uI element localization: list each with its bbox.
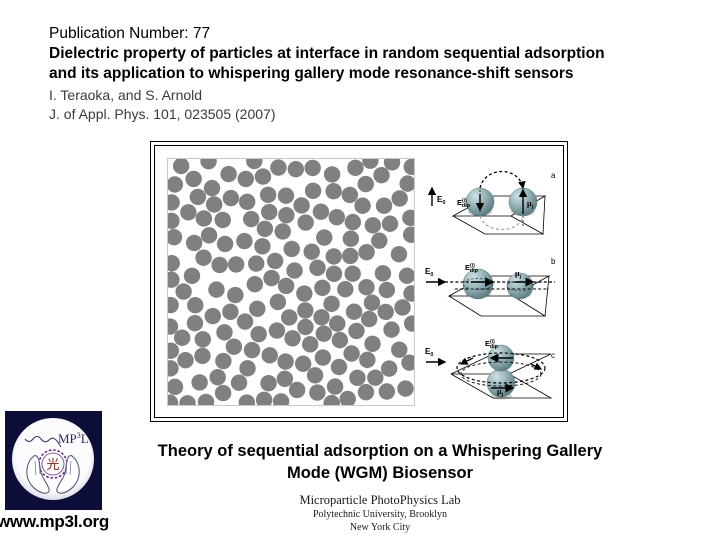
rsa-particle [314,280,330,296]
rsa-particle [244,342,260,358]
rsa-particle [304,244,320,260]
rsa-particle [278,207,294,223]
rsa-particle [208,281,224,297]
rsa-particle [278,278,294,294]
rsa-particle [263,270,279,286]
dipole-diagram-b: E0 [423,242,563,326]
rsa-particle [204,180,220,196]
e0-label-a: E0 [437,195,445,206]
rsa-particle [286,262,302,278]
rsa-particle [243,211,259,227]
rsa-particle [248,255,264,271]
rsa-particle [343,230,359,246]
rsa-particle [237,313,253,329]
rsa-particle [209,369,225,385]
rsa-particle [220,166,236,182]
rsa-particle [309,260,325,276]
rsa-particle [307,367,323,383]
rsa-particle [313,203,329,219]
rsa-particle [394,299,410,315]
rsa-particle [346,304,362,320]
rsa-particle [260,375,276,391]
rsa-particle [297,302,313,318]
rsa-particle [383,321,399,337]
rsa-particle [371,232,387,248]
rsa-particle [302,336,318,352]
rsa-particle [206,196,222,212]
rsa-particle [309,384,325,400]
lab-footer: Microparticle PhotoPhysics Lab Polytechn… [190,493,570,534]
rsa-particle [196,210,212,226]
rsa-particle [316,325,332,341]
rsa-particle [195,331,211,347]
rsa-particle [257,221,273,237]
rsa-particle [349,370,365,386]
rsa-particle [376,198,392,214]
dipole-field-loop-a [480,172,523,189]
rsa-particle [228,256,244,272]
rsa-particle [195,250,211,266]
rsa-particle [262,347,278,363]
rsa-particle [238,171,254,187]
rsa-particle [347,160,363,176]
rsa-particle [358,384,374,400]
rsa-particle [358,176,374,192]
rsa-particle [215,353,231,369]
rsa-particle [211,257,227,273]
rsa-particle [361,311,377,327]
sphere-b-left [463,269,493,299]
rsa-particle [329,315,345,331]
logo-acronym: MP3L [58,431,89,446]
rsa-particle [358,244,374,260]
rsa-particle [325,183,341,199]
rsa-particle [239,194,255,210]
dipole-diagram-c: E0 [423,328,563,412]
rsa-particle [323,296,339,312]
rsa-particle [281,309,297,325]
rsa-particle [327,378,343,394]
rsa-particle [174,330,190,346]
rsa-particle [222,304,238,320]
rsa-particle-field-panel [167,158,415,406]
dipole-diagram-a: E0 [423,154,563,238]
rsa-particle [304,160,320,176]
rsa-particle [227,287,243,303]
rsa-particle [191,374,207,390]
rsa-particle [187,297,203,313]
rsa-particle [379,383,395,399]
rsa-particle [175,283,191,299]
rsa-particle [367,369,383,385]
rsa-particle [358,279,374,295]
panel-label-a: a [551,171,556,180]
rsa-particle [216,324,232,340]
lab-website-url[interactable]: www.mp3l.org [0,511,115,533]
rsa-particle [236,233,252,249]
lab-name: Microparticle PhotoPhysics Lab [190,493,570,508]
rsa-particle [215,212,231,228]
rsa-particle [261,204,277,220]
rsa-particle [342,187,358,203]
rsa-particle [226,339,242,355]
rsa-particle [187,315,203,331]
lab-city: New York City [190,521,570,534]
journal-reference: J. of Appl. Phys. 101, 023505 (2007) [49,105,689,124]
rsa-particle [315,349,331,365]
rsa-particle [231,375,247,391]
rsa-particle [391,342,407,358]
rsa-particle [326,248,342,264]
rsa-particle [250,326,266,342]
rsa-particle [185,171,201,187]
rsa-particle [278,188,294,204]
rsa-particle [326,266,342,282]
panel-label-b: b [551,257,556,266]
rsa-particle-field-svg [168,159,414,405]
publication-number: Publication Number: 77 [49,24,689,44]
figure-caption: Theory of sequential adsorption on a Whi… [110,440,650,484]
rsa-particle [270,294,286,310]
rsa-particle [247,276,263,292]
rsa-particle [345,266,361,282]
paper-title-line-2: and its application to whispering galler… [49,64,689,84]
rsa-particle [277,371,293,387]
rsa-particle [365,217,381,233]
rsa-particle [275,223,291,239]
logo-glyph: 光 [46,458,59,473]
rsa-particle [332,332,348,348]
header-block: Publication Number: 77 Dielectric proper… [49,24,689,124]
caption-line-2: Mode (WGM) Biosensor [110,462,650,484]
figure-frame: E0 [150,141,568,422]
rsa-particle [249,301,265,317]
rsa-particle [313,309,329,325]
rsa-particle [382,216,398,232]
rsa-particle [377,304,393,320]
rsa-particle [329,209,345,225]
mp3l-logo: MP3L 光 [5,411,102,510]
mp3l-logo-svg: MP3L 光 [5,411,102,510]
rsa-particle [324,166,340,182]
edip-label-c: E(i)dip [485,339,499,350]
author-list: I. Teraoka, and S. Arnold [49,86,689,105]
rsa-particle [186,235,202,251]
e0-label-b: E0 [425,267,433,278]
rsa-particle [201,227,217,243]
rsa-particle [348,323,364,339]
rsa-particle [305,183,321,199]
rsa-particle [364,336,380,352]
rsa-particle [293,197,309,213]
rsa-particle [375,265,391,281]
rsa-particle [284,330,300,346]
rsa-particle [354,198,370,214]
rsa-particle [284,241,300,257]
dipole-diagram-column: E0 [423,152,563,414]
edip-label-b: E(i)dip [465,263,479,274]
rsa-particle [194,348,210,364]
rsa-particle [215,385,231,401]
rsa-particle [391,246,407,262]
rsa-particle [288,161,304,177]
rsa-particle [205,308,221,324]
rsa-particle [373,167,389,183]
rsa-particle [343,345,359,361]
rsa-particle [289,382,305,398]
rsa-particle [316,229,332,245]
rsa-particle [331,359,347,375]
rsa-particle [359,352,375,368]
rsa-particle [190,189,206,205]
rsa-particle [296,285,312,301]
rsa-particle [269,322,285,338]
rsa-particle [184,268,200,284]
rsa-particle [342,248,358,264]
rsa-particle [180,204,196,220]
rsa-particle [297,214,313,230]
rsa-particle [217,236,233,252]
rsa-particle [379,282,395,298]
paper-title-line-1: Dielectric property of particles at inte… [49,44,689,64]
rsa-particle [177,352,193,368]
rsa-particle [397,380,413,396]
rsa-particle [254,238,270,254]
rsa-particle [270,159,286,175]
rsa-particle [223,190,239,206]
rsa-particle [345,214,361,230]
lab-affiliation: Polytechnic University, Brooklyn [190,508,570,521]
rsa-particle [260,187,276,203]
rsa-particle [381,360,397,376]
e0-label-c: E0 [425,347,433,358]
rsa-particle [391,190,407,206]
caption-line-1: Theory of sequential adsorption on a Whi… [110,440,650,462]
rsa-particle [297,319,313,335]
rsa-particle [295,356,311,372]
rsa-particle [239,360,255,376]
figure-inner-border: E0 [154,145,564,418]
rsa-particle [337,281,353,297]
rsa-particle [277,353,293,369]
rsa-particle [255,168,271,184]
rsa-particle [364,295,380,311]
rsa-particle [267,253,283,269]
panel-label-c: c [551,351,555,360]
